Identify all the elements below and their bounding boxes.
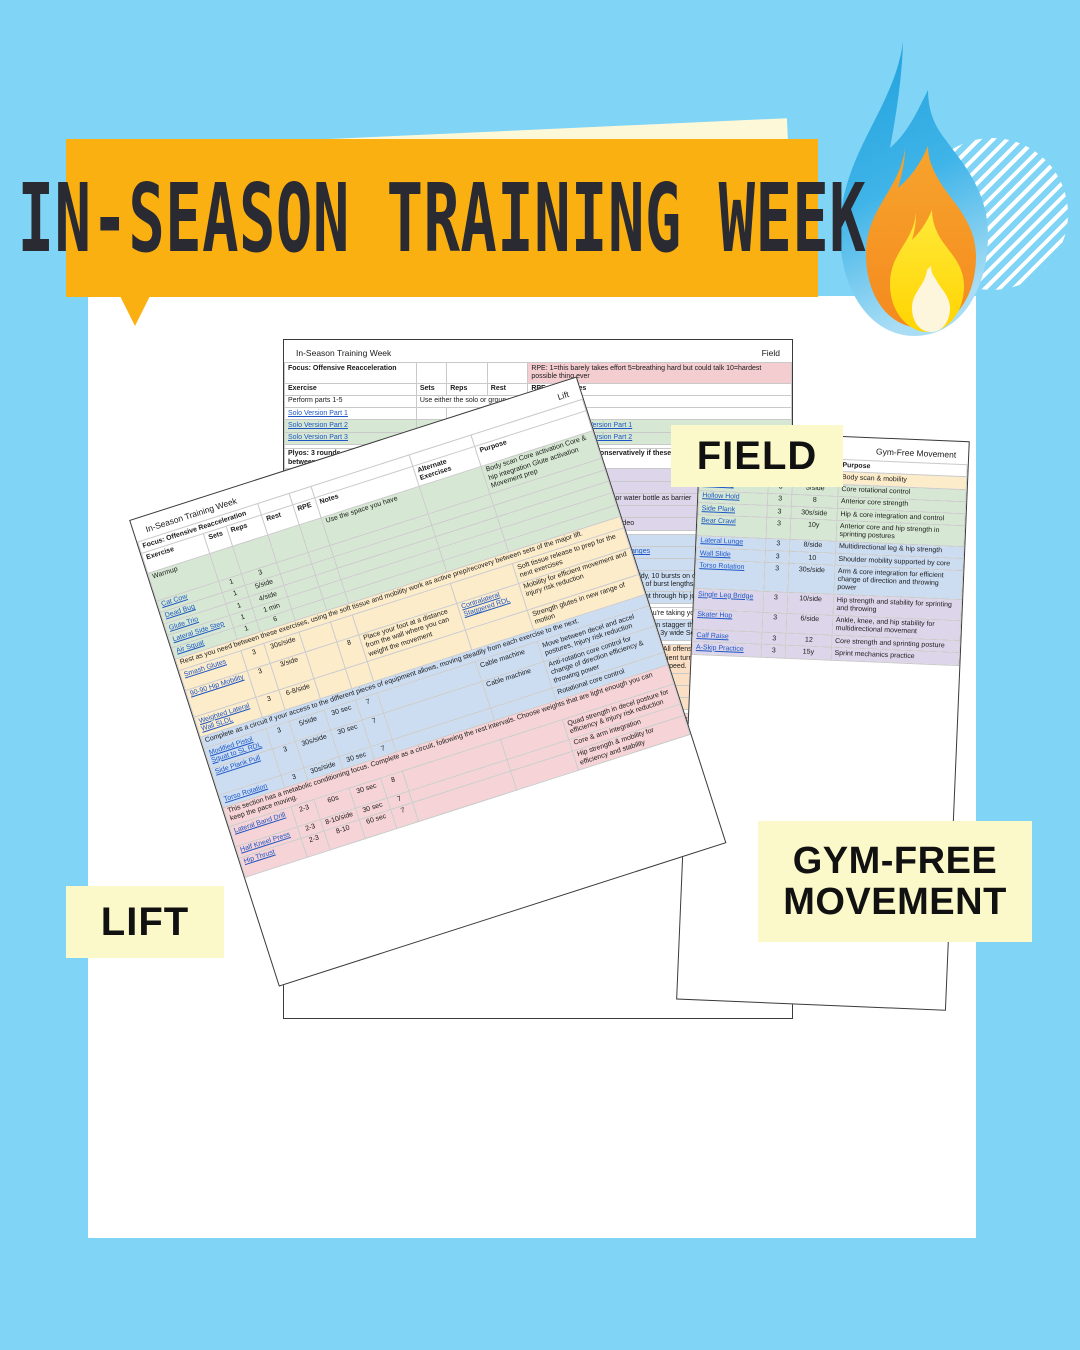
exercise-link[interactable]: Calf Raise (696, 632, 729, 640)
poster-canvas: In-Season Training Week Field Focus: Off… (0, 0, 1080, 1350)
cell-exercise: Perform parts 1-5 (285, 395, 417, 407)
table-cell (416, 363, 446, 384)
exercise-link[interactable]: Bear Crawl (701, 517, 736, 525)
exercise-link[interactable]: Skater Hop (697, 611, 732, 619)
field-doc-section: Field (762, 348, 780, 358)
exercise-link[interactable]: Solo Version Part 1 (288, 410, 348, 417)
column-header-5: Notes (563, 383, 791, 395)
banner-tail-decoration (120, 296, 150, 326)
cell-exercise: Solo Version Part 2 (285, 420, 417, 432)
cell-sets: 3 (765, 550, 790, 563)
cell-exercise: Skater Hop (693, 609, 763, 632)
cell-sets: 3 (761, 645, 786, 658)
cell-sets: 3 (767, 505, 792, 518)
cell-sets: 3 (766, 518, 791, 539)
cell-sets: 3 (762, 632, 787, 645)
column-header-1: Sets (416, 383, 446, 395)
page-title: IN-SEASON TRAINING WEEK (18, 171, 867, 266)
cell-reps: 30s/side (788, 564, 835, 595)
column-header-2: Reps (447, 383, 488, 395)
cell-exercise: A-Skip Practice (692, 642, 762, 657)
field-doc-title: In-Season Training Week (296, 348, 391, 358)
exercise-link[interactable]: Hollow Hold (702, 492, 740, 501)
exercise-link[interactable]: Single Leg Bridge (698, 591, 754, 600)
cell-reps: 10y (790, 519, 836, 541)
lift-doc-section: Lift (556, 389, 570, 402)
label-chip-gym-free: GYM-FREE MOVEMENT (758, 821, 1032, 942)
exercise-link[interactable]: A-Skip Practice (696, 644, 744, 653)
cell-sets (416, 408, 446, 420)
exercise-link[interactable]: Solo Version Part 3 (288, 434, 348, 441)
label-chip-lift: LIFT (66, 886, 224, 958)
table-cell (447, 363, 488, 384)
cell-notes (563, 408, 791, 420)
cell-sets: 3 (766, 538, 791, 551)
cell-exercise: Solo Version Part 1 (285, 408, 417, 420)
label-chip-field-text: FIELD (697, 435, 818, 477)
cell-reps: 6/side (786, 613, 832, 635)
cell-sets: 3 (764, 563, 789, 593)
exercise-link[interactable]: Solo Version Part 2 (288, 422, 348, 429)
label-chip-field: FIELD (671, 425, 843, 487)
exercise-link[interactable]: Torso Rotation (699, 562, 744, 571)
cell-sets: 3 (762, 612, 787, 633)
table-cell (487, 363, 528, 384)
cell-reps: 15y (785, 646, 831, 660)
cell-reps: 10/side (787, 592, 833, 614)
field-document-header: In-Season Training Week Field (284, 340, 792, 362)
gym-doc-section: Gym-Free Movement (876, 446, 957, 459)
cell-exercise: Single Leg Bridge (694, 588, 764, 611)
column-header-0: Exercise (285, 383, 417, 395)
label-chip-gym-line2: MOVEMENT (783, 882, 1007, 922)
cell-sets: 3 (763, 591, 788, 612)
focus-row: Focus: Offensive ReaccelerationRPE: 1=th… (285, 363, 792, 384)
focus-title: Focus: Offensive Reacceleration (285, 363, 417, 384)
cell-exercise: Bear Crawl (697, 515, 767, 538)
cell-sets: 3 (768, 493, 793, 506)
exercise-link[interactable]: Wall Slide (700, 550, 731, 558)
cell-notes: Use either the solo or group version as … (416, 395, 791, 407)
label-chip-gym-line1: GYM-FREE (793, 841, 998, 881)
cell-exercise: Torso Rotation (695, 560, 766, 592)
title-banner: IN-SEASON TRAINING WEEK (66, 139, 818, 297)
exercise-link[interactable]: Side Plank (702, 505, 736, 513)
label-chip-lift-text: LIFT (101, 901, 189, 943)
exercise-link[interactable]: Lateral Lunge (700, 537, 743, 546)
